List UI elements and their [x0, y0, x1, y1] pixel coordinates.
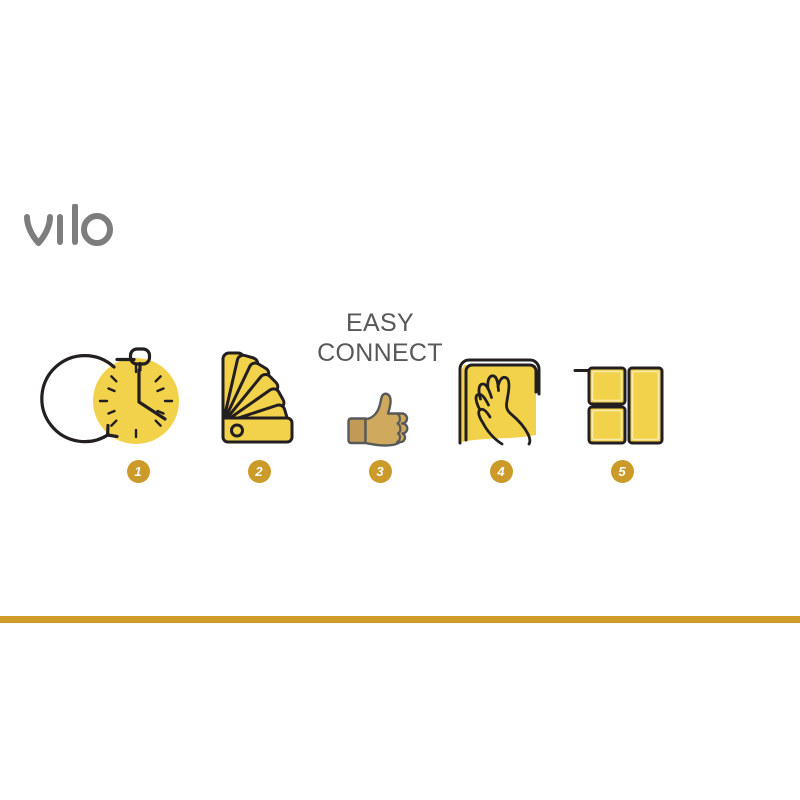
step-art-3: EASY CONNECT [319, 296, 441, 451]
step-art-1 [77, 296, 199, 451]
step-badge-5: 5 [611, 460, 634, 483]
step-item-1[interactable]: 1 [77, 296, 199, 496]
step-art-5 [561, 296, 683, 451]
gold-rule-divider [0, 616, 800, 623]
panel-layout-icon [572, 353, 672, 451]
step-item-4[interactable]: 4 [440, 296, 562, 496]
step-item-3[interactable]: EASY CONNECT 3 [319, 296, 441, 496]
slide-canvas: 1 [0, 0, 800, 800]
thumbs-up-icon [347, 391, 413, 449]
brand-logo [24, 198, 224, 254]
step-badge-2: 2 [248, 460, 271, 483]
step-item-5[interactable]: 5 [561, 296, 683, 496]
hand-wipe-panel-icon [450, 347, 552, 451]
steps-row: 1 [77, 296, 723, 496]
easy-connect-caption: EASY CONNECT [301, 308, 459, 368]
stopwatch-icon [84, 339, 192, 451]
vilo-wordmark-icon [24, 204, 116, 248]
step-badge-4: 4 [490, 460, 513, 483]
color-swatch-fan-icon [207, 345, 311, 451]
step-badge-3: 3 [369, 460, 392, 483]
step-art-4 [440, 296, 562, 451]
step-badge-1: 1 [127, 460, 150, 483]
